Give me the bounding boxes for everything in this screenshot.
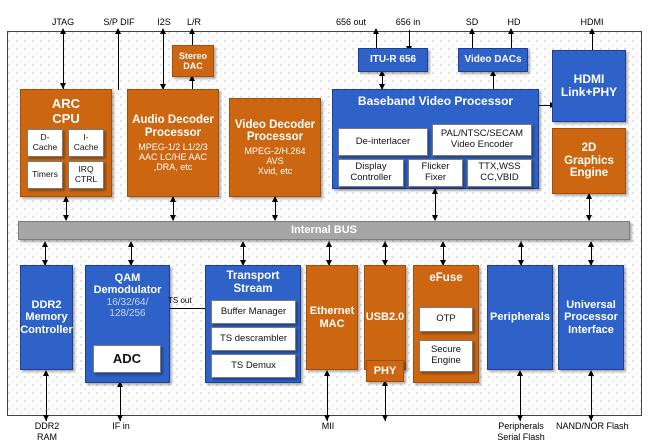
flicker-fixer-line2: Fixer xyxy=(425,173,446,184)
ddr2-line2: Memory xyxy=(25,311,67,323)
block-display-controller[interactable]: Display Controller xyxy=(338,159,404,187)
block-video-encoder[interactable]: PAL/NTSC/SECAM Video Encoder xyxy=(432,124,532,156)
block-d-cache[interactable]: D- Cache xyxy=(27,129,63,157)
io-label-peripherals-serial-flash: Peripherals Serial Flash xyxy=(487,421,555,444)
mii-line1: MII xyxy=(312,421,344,432)
block-secure-engine[interactable]: Secure Engine xyxy=(419,340,473,372)
arrow-nand-nor-up xyxy=(588,370,594,376)
ddr2-line1: DDR2 xyxy=(32,299,62,311)
upi-line2: Processor xyxy=(564,311,618,323)
video-dacs-label: Video DACs xyxy=(464,54,521,65)
nand-nor-line1: NAND/NOR Flash xyxy=(556,421,648,432)
ddr2-ram-line1: DDR2 xyxy=(26,421,68,432)
audio-decoder-detail-3: ,DRA, etc xyxy=(154,162,193,172)
wire-peripherals-flash xyxy=(520,372,521,421)
block-flicker-fixer[interactable]: Flicker Fixer xyxy=(408,159,463,187)
qam-detail-2: 128/256 xyxy=(109,308,145,319)
arrow-bus-ts-up xyxy=(240,241,246,247)
arrow-sd-up xyxy=(469,28,475,34)
i-cache-line2: Cache xyxy=(74,143,99,153)
arrow-periph-flash-up xyxy=(517,370,523,376)
d-cache-line2: Cache xyxy=(33,143,58,153)
graphics-2d-line3: Engine xyxy=(570,167,608,180)
block-otp[interactable]: OTP xyxy=(419,307,473,332)
upi-line3: Interface xyxy=(568,324,614,336)
block-ttx-wss-cc-vbid[interactable]: TTX,WSS CC,VBID xyxy=(467,159,532,187)
stereo-dac-line2: DAC xyxy=(183,61,203,71)
arrow-bus-qam-up xyxy=(128,241,134,247)
block-2d-graphics-engine[interactable]: 2D Graphics Engine xyxy=(552,128,626,194)
block-usb20[interactable]: USB2.0 xyxy=(364,265,406,370)
internal-bus-label: Internal BUS xyxy=(291,224,357,236)
wire-nand-nor-flash xyxy=(591,372,592,421)
arrow-bus-usb-up xyxy=(382,241,388,247)
arrow-bus-efuse-up xyxy=(440,241,446,247)
stereo-dac-line1: Stereo xyxy=(179,51,207,61)
periph-flash-line2: Serial Flash xyxy=(487,432,555,443)
itu-r-656-label: ITU-R 656 xyxy=(370,54,416,65)
block-buffer-manager[interactable]: Buffer Manager xyxy=(211,300,296,324)
io-label-hdmi: HDMI xyxy=(570,17,614,28)
hdmi-link-phy-line2: Link+PHY xyxy=(561,86,617,99)
arrow-bus-periph-up xyxy=(518,241,524,247)
block-audio-decoder-processor[interactable]: Audio Decoder Processor MPEG-1/2 L1/2/3 … xyxy=(127,89,219,197)
otp-label: OTP xyxy=(436,314,456,325)
block-i-cache[interactable]: I- Cache xyxy=(68,129,104,157)
block-peripherals[interactable]: Peripherals xyxy=(487,265,553,370)
peripherals-label: Peripherals xyxy=(490,311,550,323)
transport-stream-line1: Transport xyxy=(226,270,279,283)
wire-ddr2-ram xyxy=(46,372,47,421)
de-interlacer-label: De-interlacer xyxy=(356,137,410,148)
io-label-ddr2-ram: DDR2 RAM xyxy=(26,421,68,444)
arc-cpu-line1: ARC xyxy=(52,97,80,112)
arrow-lr-up xyxy=(189,28,195,34)
io-label-if-in: IF in xyxy=(103,421,139,432)
arrow-hd-up xyxy=(508,28,514,34)
block-de-interlacer[interactable]: De-interlacer xyxy=(338,128,428,156)
adc-label: ADC xyxy=(113,352,141,367)
wire-i2s xyxy=(163,30,164,90)
hdmi-link-phy-line1: HDMI xyxy=(574,73,605,86)
arrow-hdmi-up xyxy=(589,28,595,34)
block-itu-r-656[interactable]: ITU-R 656 xyxy=(358,48,428,72)
io-label-i2s: I2S xyxy=(150,17,178,28)
video-decoder-detail-1: MPEG-2/H.264 xyxy=(244,146,305,156)
block-ddr2-memory-controller[interactable]: DDR2 Memory Controller xyxy=(20,265,73,370)
block-ts-demux[interactable]: TS Demux xyxy=(211,354,296,378)
ddr2-line3: Controller xyxy=(20,324,73,336)
block-video-dacs[interactable]: Video DACs xyxy=(458,48,528,72)
upi-line1: Universal xyxy=(566,299,616,311)
ddr2-ram-line2: RAM xyxy=(26,432,68,443)
baseband-video-processor-title: Baseband Video Processor xyxy=(358,95,513,108)
ethernet-mac-line1: Ethernet xyxy=(310,305,355,317)
io-label-sd: SD xyxy=(458,17,486,28)
block-irq-ctrl[interactable]: IRQ CTRL xyxy=(68,161,104,189)
block-ts-descrambler[interactable]: TS descrambler xyxy=(211,327,296,351)
graphics-2d-line1: 2D xyxy=(582,142,597,155)
arrow-bus-ddr2-up xyxy=(42,241,48,247)
if-in-line1: IF in xyxy=(103,421,139,432)
audio-decoder-line1: Audio Decoder xyxy=(132,114,214,127)
io-label-nand-nor-flash: NAND/NOR Flash xyxy=(556,421,648,432)
qam-line2: Demodulator xyxy=(94,284,162,296)
io-label-jtag: JTAG xyxy=(43,17,83,28)
arrow-phy-out-dn xyxy=(382,415,388,421)
transport-stream-line2: Stream xyxy=(234,283,273,296)
ethernet-mac-line2: MAC xyxy=(319,318,344,330)
block-universal-processor-interface[interactable]: Universal Processor Interface xyxy=(558,265,624,370)
graphics-2d-line2: Graphics xyxy=(564,155,614,168)
arrow-bus-eth-up xyxy=(326,241,332,247)
qam-detail-1: 16/32/64/ xyxy=(107,297,149,308)
video-decoder-line2: Processor xyxy=(247,131,303,144)
video-decoder-detail-3: Xvid, etc xyxy=(258,166,293,176)
arrow-ddr2-ram-up xyxy=(43,370,49,376)
arrow-i2s-up xyxy=(160,28,166,34)
arrow-bus-upi-up xyxy=(588,241,594,247)
block-timers[interactable]: Timers xyxy=(27,161,63,189)
video-encoder-line2: Video Encoder xyxy=(451,140,513,151)
video-decoder-detail-2: AVS xyxy=(266,156,283,166)
ts-demux-label: TS Demux xyxy=(231,361,276,372)
buffer-manager-label: Buffer Manager xyxy=(221,307,286,318)
irq-ctrl-line2: CTRL xyxy=(75,175,97,185)
timers-label: Timers xyxy=(32,170,58,180)
block-ethernet-mac[interactable]: Ethernet MAC xyxy=(306,265,358,370)
audio-decoder-line2: Processor xyxy=(145,127,201,140)
wire-spdif xyxy=(118,30,119,90)
display-controller-line2: Controller xyxy=(350,173,391,184)
arrow-656out-up xyxy=(373,28,379,34)
arrow-mii-up xyxy=(324,370,330,376)
phy-label: PHY xyxy=(374,365,397,377)
video-decoder-line1: Video Decoder xyxy=(235,119,315,132)
efuse-label: eFuse xyxy=(429,272,462,285)
qam-line1: QAM xyxy=(115,272,141,284)
block-hdmi-link-phy[interactable]: HDMI Link+PHY xyxy=(552,50,626,122)
io-label-656-in: 656 in xyxy=(384,17,432,28)
block-video-decoder-processor[interactable]: Video Decoder Processor MPEG-2/H.264 AVS… xyxy=(229,98,321,197)
io-label-mii: MII xyxy=(312,421,344,432)
secure-engine-line2: Engine xyxy=(431,356,461,367)
label-ts-out: TS out xyxy=(168,296,192,305)
ttx-wss-line2: CC,VBID xyxy=(480,173,519,184)
ts-descrambler-label: TS descrambler xyxy=(220,334,287,345)
io-label-656-out: 656 out xyxy=(325,17,377,28)
block-stereo-dac[interactable]: Stereo DAC xyxy=(172,45,214,77)
internal-bus: Internal BUS xyxy=(18,221,630,240)
audio-decoder-detail-1: MPEG-1/2 L1/2/3 xyxy=(138,142,208,152)
arrow-spdif-up xyxy=(115,28,121,34)
io-label-hd: HD xyxy=(500,17,528,28)
io-label-lr: L/R xyxy=(178,17,210,28)
block-adc[interactable]: ADC xyxy=(93,345,161,373)
periph-flash-line1: Peripherals xyxy=(487,421,555,432)
audio-decoder-detail-2: AAC LC/HE AAC xyxy=(139,152,207,162)
block-phy[interactable]: PHY xyxy=(366,360,404,382)
arrow-jtag-up xyxy=(60,28,66,34)
io-label-spdif: S/P DIF xyxy=(95,17,143,28)
usb20-label: USB2.0 xyxy=(366,311,405,323)
arc-cpu-line2: CPU xyxy=(52,112,79,127)
wire-mii xyxy=(327,372,328,421)
soc-block-diagram: JTAG S/P DIF I2S L/R 656 out 656 in SD H… xyxy=(0,0,650,446)
